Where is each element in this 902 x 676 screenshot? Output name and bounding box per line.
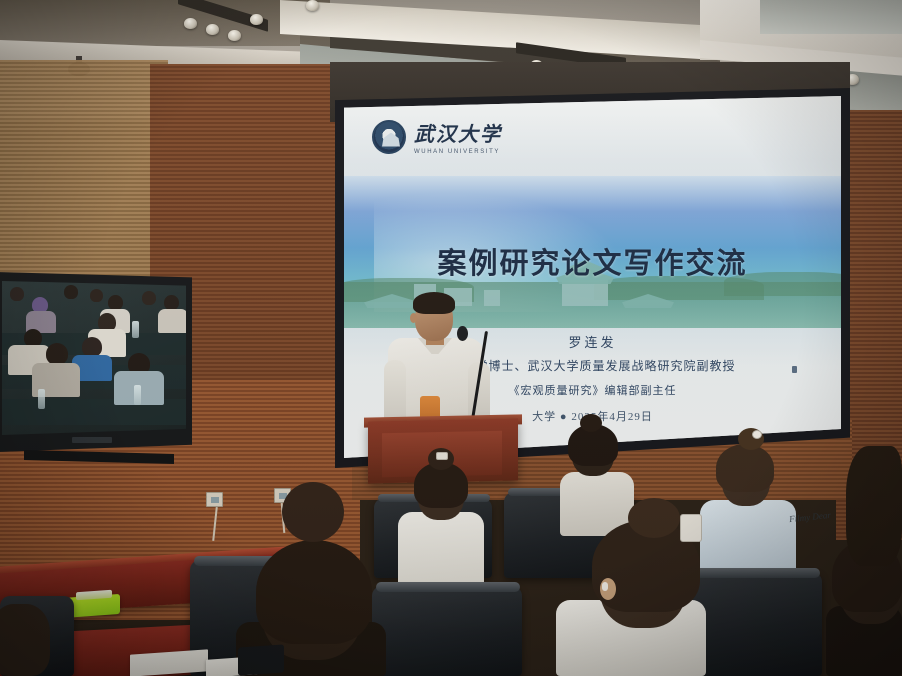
audience-person-hair [256,540,372,644]
spotlight-icon [184,18,197,29]
audience-person-hair [0,604,50,676]
university-seal-icon [372,120,406,154]
lecture-seat [372,586,522,676]
wall-outlet [206,492,223,507]
monitor-person [90,289,103,302]
monitor-person [64,285,78,299]
audience-person-bun [282,482,344,542]
earbud-icon [602,582,608,591]
ceiling-right-recess [760,0,902,34]
hair-clip [680,514,702,542]
lecture-seat-top [694,568,820,578]
audience-person-bun [580,414,602,432]
spotlight-icon [306,0,319,11]
slide-building [484,290,500,306]
speaker-ear [410,313,417,323]
logo-english-name: WUHAN UNIVERSITY [414,149,502,155]
monitor-brand-badge [72,437,112,443]
monitor-bottle [134,385,141,405]
monitor-person [46,343,68,365]
monitor-person [82,337,102,357]
wall-monitor-screen[interactable] [2,281,186,435]
hair-clip [436,452,448,460]
hair-clip [752,430,762,439]
lecture-hall-photo: 武汉大学 WUHAN UNIVERSITY 案例研究论文写作交流 罗连发 经济学… [0,0,902,676]
monitor-person-body [158,309,186,333]
audience-person-bun [628,498,680,538]
speaker-hair [413,292,455,314]
phone-device [238,644,284,675]
audience-person-hair [846,446,902,566]
lecture-seat [690,572,822,676]
monitor-person [108,295,123,310]
logo-chinese-name: 武汉大学 [414,118,502,147]
monitor-bottle [38,389,45,409]
slide-corner-mark [792,366,797,373]
monitor-person [142,291,156,305]
slide-title: 案例研究论文写作交流 [344,240,841,282]
audience-person-body [398,512,484,590]
spotlight-icon [250,14,263,25]
paper-sheet [130,649,208,676]
audience-person-hair [716,444,774,492]
monitor-person [10,287,24,301]
spotlight-icon [228,30,241,41]
lecture-seat-top [376,582,520,592]
monitor-person [164,295,179,310]
spotlight-icon [206,24,219,35]
microphone-icon [457,326,468,341]
wuhan-university-logo: 武汉大学 WUHAN UNIVERSITY [372,118,502,155]
monitor-bottle [132,321,139,338]
